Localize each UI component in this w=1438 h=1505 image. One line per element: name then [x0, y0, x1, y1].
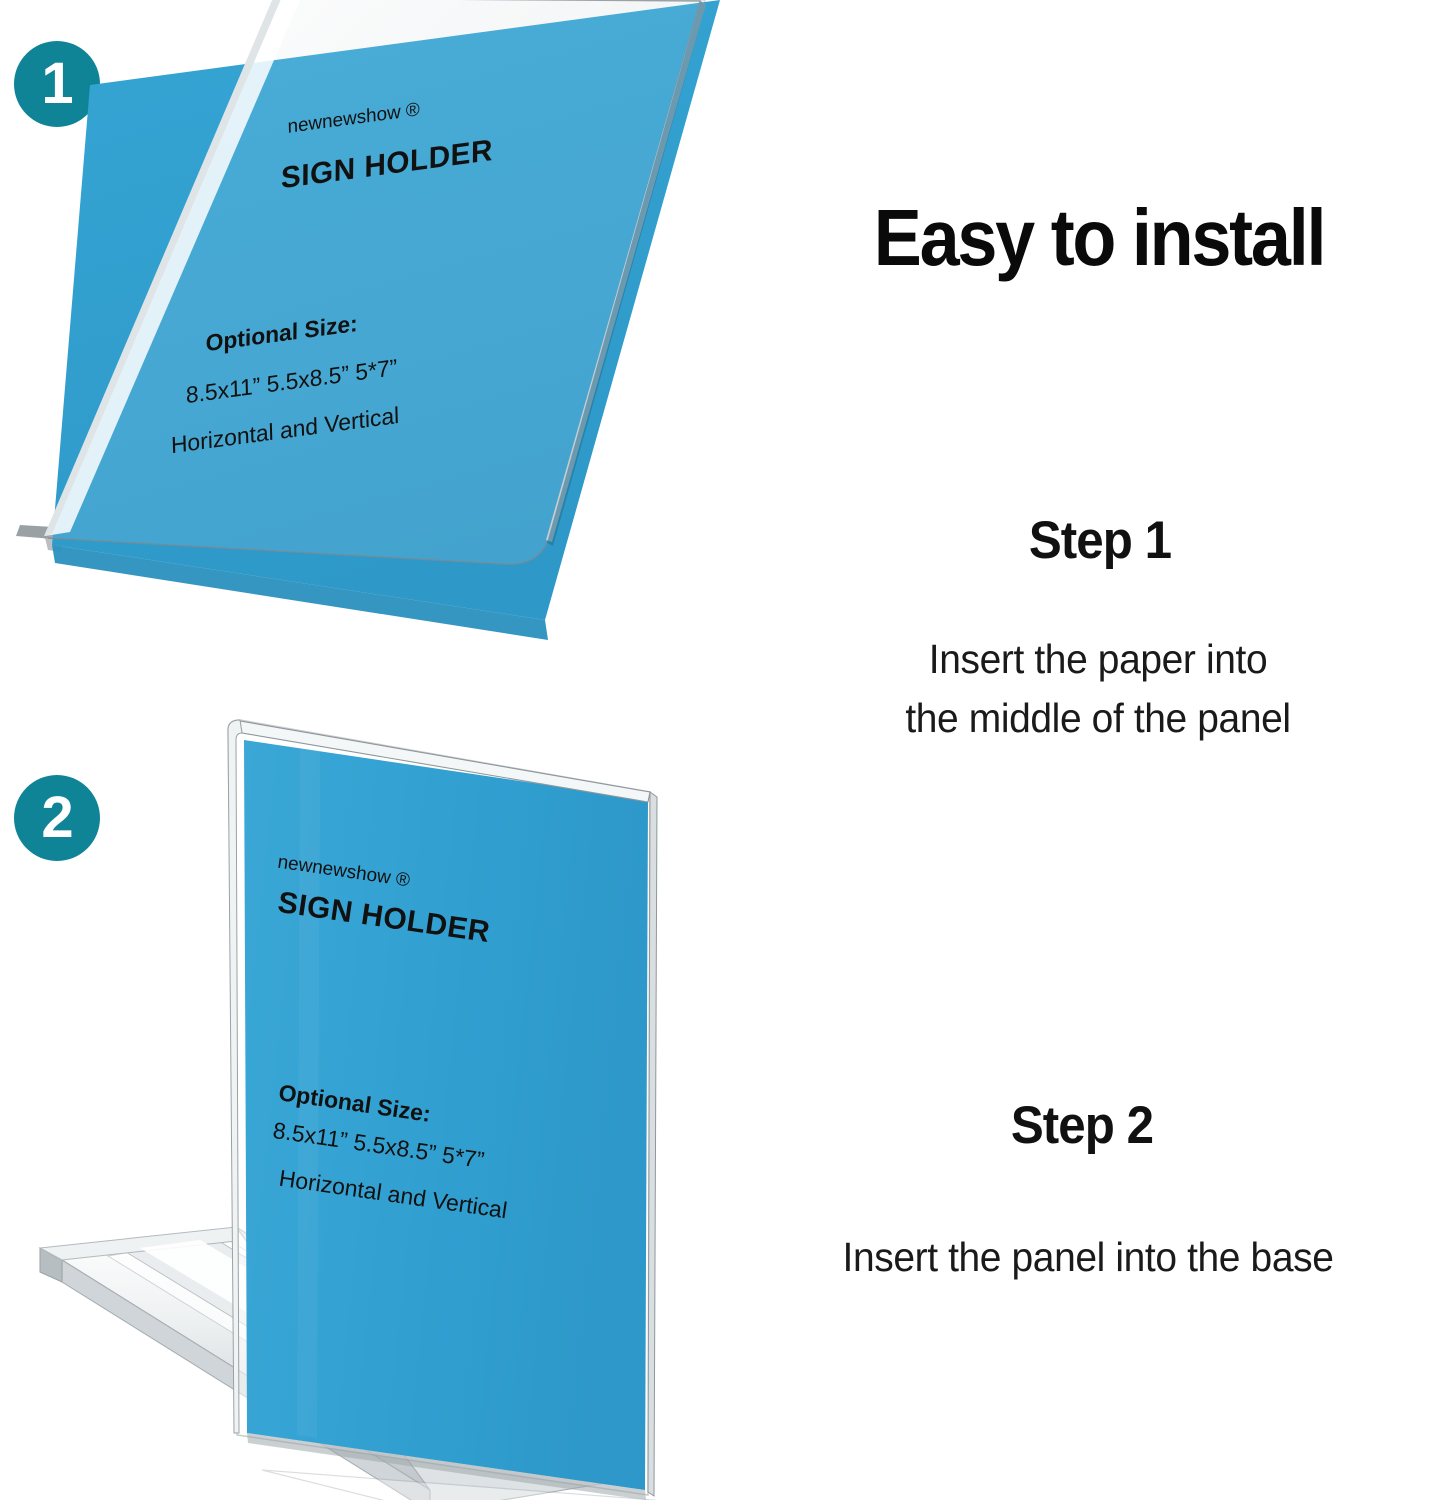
step-1-illustration: newnewshow ® SIGN HOLDER Optional Size: … [0, 0, 800, 680]
step-1-body: Insert the paper into the middle of the … [775, 630, 1421, 749]
step-1-title: Step 1 [793, 510, 1407, 571]
step-2-body-line-1: Insert the panel into the base [765, 1228, 1411, 1287]
infographic-canvas: 1 [0, 0, 1438, 1500]
step-2-illustration: newnewshow ® SIGN HOLDER Optional Size: … [0, 700, 760, 1500]
step-2-body: Insert the panel into the base [765, 1228, 1411, 1287]
step-1-body-line-2: the middle of the panel [775, 689, 1421, 748]
page-headline: Easy to install [794, 192, 1404, 284]
panel-right-edge [648, 792, 657, 1496]
step-2-title: Step 2 [775, 1095, 1389, 1156]
step-1-body-line-1: Insert the paper into [775, 630, 1421, 689]
